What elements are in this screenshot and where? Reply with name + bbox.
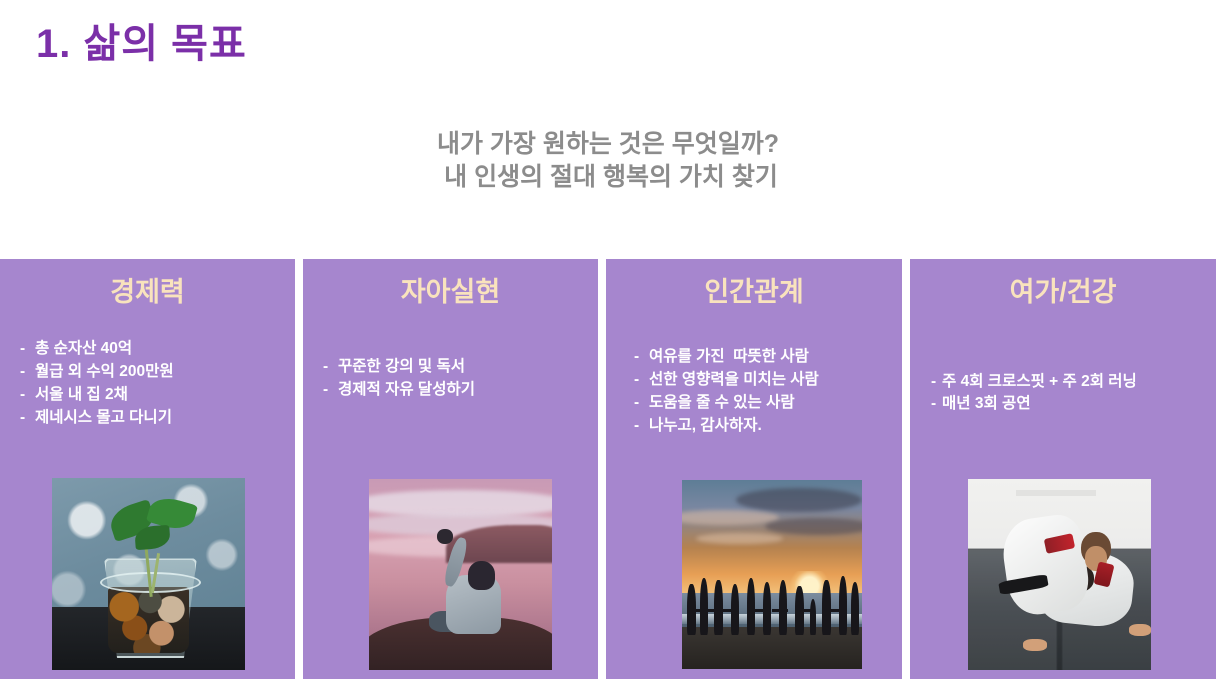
list-item: -서울 내 집 2채 bbox=[20, 384, 295, 407]
panel-heading-economy: 경제력 bbox=[0, 278, 295, 308]
list-item: -총 순자산 40억 bbox=[20, 338, 295, 361]
panel-heading-self-realization: 자아실현 bbox=[303, 278, 598, 308]
surf-line bbox=[682, 614, 862, 623]
list-item: -주 4회 크로스핏 + 주 2회 러닝 bbox=[931, 371, 1216, 393]
person-silhouette bbox=[779, 580, 787, 635]
list-item: -월급 외 수익 200만원 bbox=[20, 361, 295, 384]
list-item: -도움을 줄 수 있는 사람 bbox=[634, 392, 902, 415]
list-item-label: 주 4회 크로스핏 + 주 2회 러닝 bbox=[942, 373, 1137, 390]
panel-heading-relationships: 인간관계 bbox=[606, 278, 902, 308]
list-item: -경제적 자유 달성하기 bbox=[323, 379, 598, 402]
coins-sprout-illustration bbox=[52, 478, 245, 670]
panel-list-leisure-health: -주 4회 크로스핏 + 주 2회 러닝 -매년 3회 공연 bbox=[910, 371, 1216, 416]
subtitle-line-2: 내 인생의 절대 행복의 가치 찾기 bbox=[0, 161, 1216, 194]
photo-sunset-group bbox=[682, 480, 862, 669]
list-item: -꾸준한 강의 및 독서 bbox=[323, 356, 598, 379]
photo-jiujitsu bbox=[968, 479, 1151, 670]
person-silhouette bbox=[763, 582, 771, 635]
list-item-label: 제네시스 몰고 다니기 bbox=[35, 409, 172, 426]
page-title: 1. 삶의 목표 bbox=[36, 20, 247, 68]
bullet-dash-icon: - bbox=[20, 384, 35, 407]
list-item: -선한 영향력을 미치는 사람 bbox=[634, 369, 902, 392]
person-silhouette bbox=[851, 582, 859, 635]
list-item-label: 여유를 가진 따뜻한 사람 bbox=[649, 348, 809, 365]
list-item: -매년 3회 공연 bbox=[931, 393, 1216, 415]
panel-list-economy: -총 순자산 40억 -월급 외 수익 200만원 -서울 내 집 2채 -제네… bbox=[0, 338, 295, 430]
list-item-label: 도움을 줄 수 있는 사람 bbox=[649, 394, 795, 411]
person-fist bbox=[437, 529, 453, 544]
list-item-label: 월급 외 수익 200만원 bbox=[35, 363, 174, 380]
panel-list-relationships: -여유를 가진 따뜻한 사람 -선한 영향력을 미치는 사람 -도움을 줄 수 … bbox=[606, 346, 902, 438]
list-item-label: 총 순자산 40억 bbox=[35, 340, 132, 357]
person-silhouette bbox=[714, 580, 722, 635]
list-item-label: 꾸준한 강의 및 독서 bbox=[338, 358, 465, 375]
subtitle-line-1: 내가 가장 원하는 것은 무엇일까? bbox=[0, 128, 1216, 161]
player-hand bbox=[1023, 639, 1047, 650]
bullet-dash-icon: - bbox=[20, 407, 35, 430]
list-item-label: 나누고, 감사하자. bbox=[649, 417, 762, 434]
bullet-dash-icon: - bbox=[20, 361, 35, 384]
player-hand bbox=[1129, 624, 1151, 635]
list-item-label: 경제적 자유 달성하기 bbox=[338, 381, 475, 398]
list-item: -제네시스 몰고 다니기 bbox=[20, 407, 295, 430]
bullet-dash-icon: - bbox=[931, 393, 942, 415]
list-item-label: 매년 3회 공연 bbox=[942, 395, 1031, 412]
panel-heading-leisure-health: 여가/건강 bbox=[910, 278, 1216, 308]
bullet-dash-icon: - bbox=[634, 346, 649, 369]
panel-list-self-realization: -꾸준한 강의 및 독서 -경제적 자유 달성하기 bbox=[303, 356, 598, 402]
bullet-dash-icon: - bbox=[20, 338, 35, 361]
sunset-group-illustration bbox=[682, 480, 862, 669]
bullet-dash-icon: - bbox=[323, 379, 338, 402]
wall-trim bbox=[1016, 490, 1097, 496]
slide-subtitle: 내가 가장 원하는 것은 무엇일까? 내 인생의 절대 행복의 가치 찾기 bbox=[0, 128, 1216, 194]
bullet-dash-icon: - bbox=[931, 371, 942, 393]
cloud bbox=[765, 518, 862, 535]
bullet-dash-icon: - bbox=[634, 392, 649, 415]
jiujitsu-illustration bbox=[968, 479, 1151, 670]
list-item-label: 선한 영향력을 미치는 사람 bbox=[649, 371, 819, 388]
person-silhouette bbox=[731, 584, 739, 635]
person-silhouette bbox=[687, 584, 695, 635]
list-item: -여유를 가진 따뜻한 사람 bbox=[634, 346, 902, 369]
photo-coins-sprout bbox=[52, 478, 245, 670]
person-silhouette bbox=[747, 578, 755, 635]
photo-summit-victory bbox=[369, 479, 552, 670]
person-silhouette-child bbox=[810, 599, 816, 635]
person-silhouette bbox=[795, 586, 803, 635]
coin-pile bbox=[108, 587, 189, 652]
cloud bbox=[736, 488, 862, 513]
beach-sand bbox=[682, 627, 862, 669]
bullet-dash-icon: - bbox=[634, 369, 649, 392]
list-item-label: 서울 내 집 2채 bbox=[35, 386, 128, 403]
person-silhouette bbox=[839, 576, 847, 635]
bullet-dash-icon: - bbox=[634, 415, 649, 438]
list-item: -나누고, 감사하자. bbox=[634, 415, 902, 438]
summit-victory-illustration bbox=[369, 479, 552, 670]
person-silhouette bbox=[700, 578, 708, 635]
person-hood-head bbox=[468, 561, 495, 590]
bullet-dash-icon: - bbox=[323, 356, 338, 379]
person-silhouette bbox=[822, 580, 830, 635]
